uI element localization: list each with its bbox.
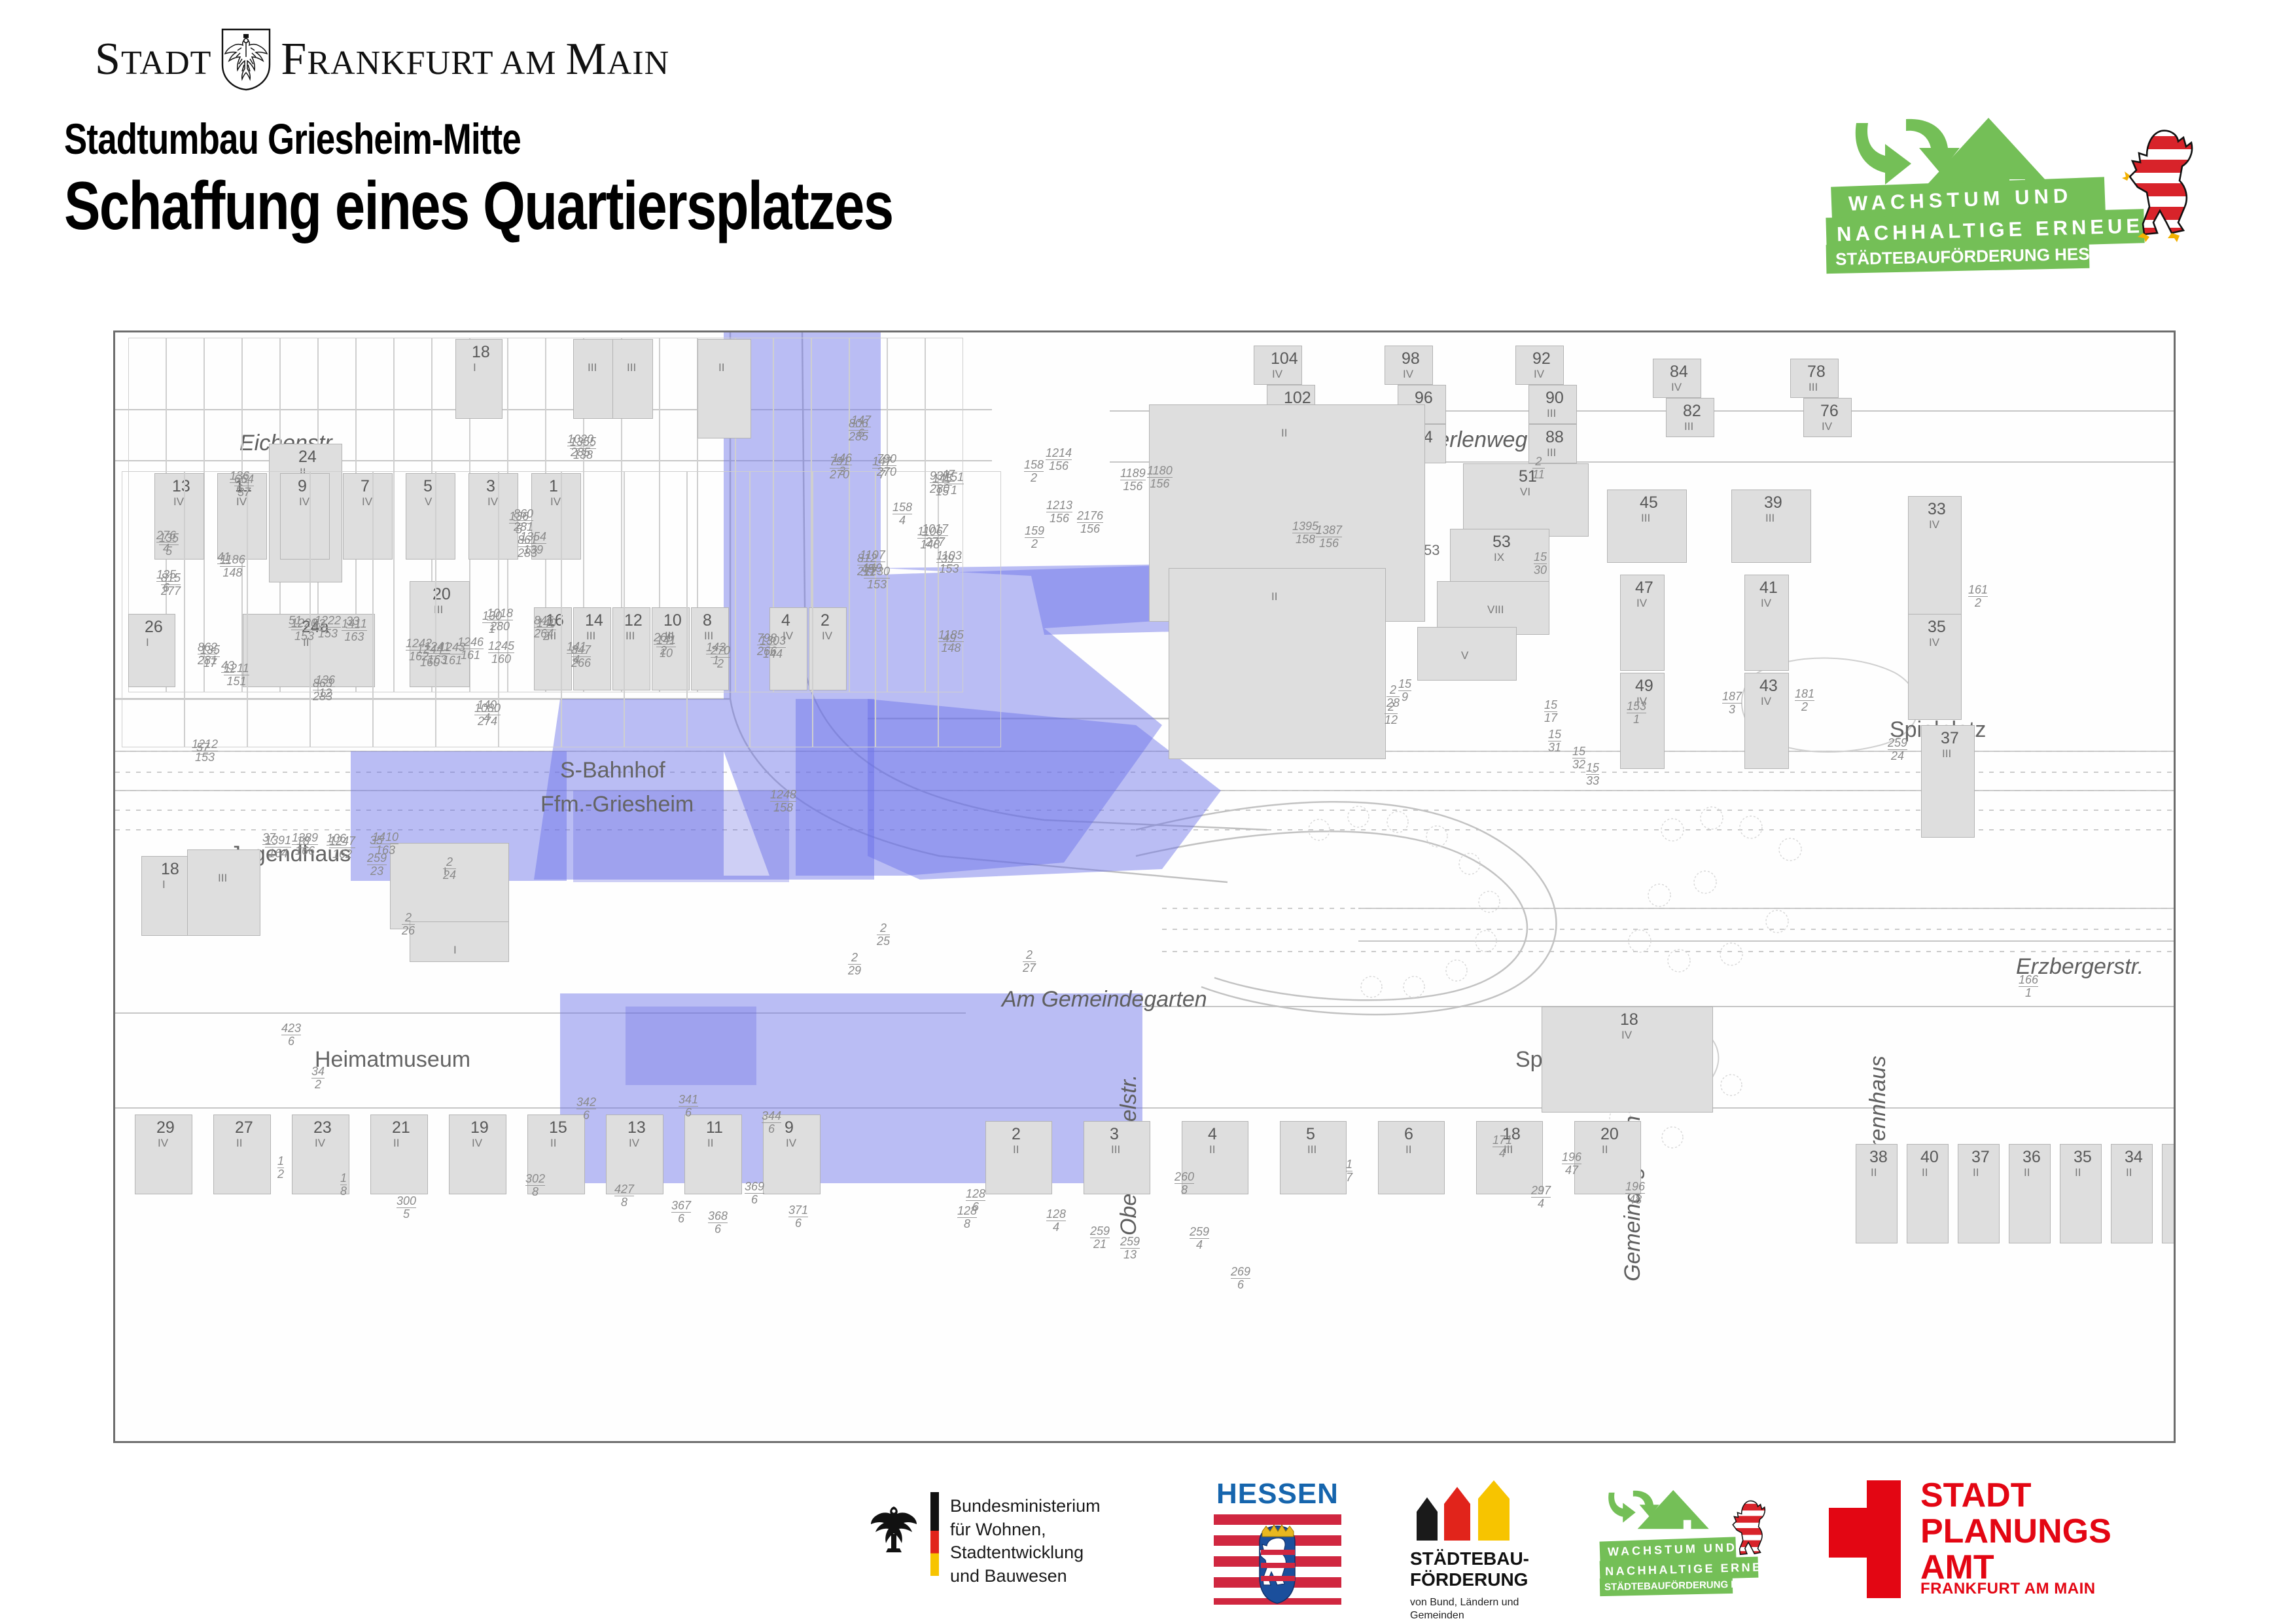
- frankfurt-eagle-crest-icon: [221, 28, 272, 91]
- map-floor-count: VI: [1520, 486, 1530, 499]
- map-parcel-number: 12: [277, 1155, 284, 1180]
- map-parcel-number: 66437: [234, 473, 254, 498]
- map-house-number: 35: [1928, 618, 1946, 637]
- map-parcel-number: 19648: [1625, 1181, 1645, 1205]
- map-parcel-number: 3028: [525, 1173, 545, 1198]
- hessen-lion-icon: [2121, 124, 2199, 242]
- map-parcel-number: 1873: [1722, 690, 1742, 715]
- map-parcel-number: 1612: [1968, 584, 1988, 609]
- map-floor-count: II: [2024, 1166, 2030, 1179]
- bmwsb-text: Bundesministerium für Wohnen, Stadtentwi…: [950, 1495, 1178, 1588]
- map-parcel-number: 3686: [708, 1210, 728, 1235]
- map-parcel-number: 862281: [198, 641, 217, 666]
- city-logo-word-frankfurt: FRANKFURT AM MAIN: [281, 33, 669, 86]
- street-label-am-gemeindegarten: Am Gemeindegarten: [1002, 987, 1207, 1012]
- wachstum-band-line3: STÄDTEBAUFÖRDERUNG HESSEN: [1826, 240, 2090, 274]
- bmwsb-line3: und Bauwesen: [950, 1565, 1178, 1588]
- map-floor-count: V: [1461, 649, 1468, 662]
- stadtplanungsamt-logo: STADT PLANUNGS AMT FRANKFURT AM MAIN: [1829, 1480, 2169, 1605]
- map-floor-count: IV: [472, 1137, 482, 1150]
- map-parcel-number: 1387156: [1316, 524, 1342, 549]
- map-parcel-number: 225: [877, 922, 890, 947]
- map-house-number: 29: [156, 1118, 175, 1137]
- map-floor-count: II: [1973, 1166, 1979, 1179]
- staedtebau-sub2: Gemeinden: [1410, 1609, 1557, 1622]
- map-parcel: [185, 471, 247, 747]
- spa-city: FRANKFURT AM MAIN: [1920, 1580, 2096, 1598]
- map-parcel-number: 2974: [1531, 1185, 1551, 1209]
- map-parcel-number: 227: [1023, 949, 1036, 974]
- map-parcel-number: 806285: [849, 418, 868, 442]
- map-parcel-number: 1532: [1572, 745, 1585, 770]
- map-house-number: 9: [785, 1118, 794, 1137]
- map-house-number: 49: [1635, 677, 1653, 696]
- map-floor-count: III: [627, 361, 636, 374]
- map-house-number: 78: [1807, 363, 1826, 382]
- map-parcel-number: 1530: [1534, 551, 1547, 576]
- map-house-number: 4: [1208, 1125, 1217, 1144]
- map-parcel-number: 25924: [1888, 737, 1907, 762]
- map-parcel-number: 3005: [397, 1195, 416, 1220]
- map-house-number: 18: [472, 343, 490, 362]
- map-parcel-number: 1017277: [922, 523, 948, 548]
- map-floor-count: IV: [1621, 1029, 1632, 1042]
- spa-line1: STADT: [1920, 1478, 2111, 1514]
- map-house-number: 13: [627, 1118, 646, 1137]
- map-parcel-number: 1213156: [1046, 499, 1072, 524]
- map-floor-count: III: [218, 872, 227, 885]
- map-parcel-number: 224: [443, 856, 456, 881]
- map-house-number: 37: [1941, 729, 1959, 748]
- map-floor-count: IV: [1534, 368, 1544, 381]
- map-house-number: 18: [161, 860, 179, 879]
- map-parcel-number: 1395158: [1292, 520, 1318, 545]
- map-floor-count: II: [1871, 1166, 1877, 1179]
- hessen-wordmark: HESSEN: [1214, 1478, 1341, 1510]
- poi-label-heimatmuseum: Heimatmuseum: [315, 1047, 470, 1073]
- cadastral-map[interactable]: Eichenstr. Schwarzerlenweg Am Gemeindega…: [113, 330, 2176, 1443]
- map-parcel-number: 1284: [1046, 1208, 1066, 1233]
- wachstum-erneuerung-logo: WACHSTUM UND NACHHALTIGE ERNEUERUNG STÄD…: [1826, 116, 2219, 267]
- map-house-number: 11: [706, 1118, 723, 1137]
- map-house-number: 33: [1928, 500, 1946, 519]
- map-parcel-number: 1020285: [567, 433, 593, 458]
- map-parcel-number: 33: [346, 615, 359, 628]
- map-floor-count: III: [1307, 1143, 1316, 1156]
- map-floor-count: IV: [158, 1137, 168, 1150]
- map-parcel-number: 791270: [830, 455, 849, 480]
- map-floor-count: III: [1111, 1143, 1120, 1156]
- map-parcel-number: 815277: [161, 572, 181, 597]
- map-house-number: 90: [1545, 389, 1564, 408]
- map-house-number: 6: [1404, 1125, 1413, 1144]
- bmwsb-line2: für Wohnen, Stadtentwicklung: [950, 1518, 1178, 1565]
- page-header: STADT FRANKFURT AM MAIN Stadtumbau Gries…: [0, 0, 2296, 288]
- wachstum-erneuerung-logo-footer: WACHSTUM UND NACHHALTIGE ERNEUERUNG STÄD…: [1600, 1479, 1796, 1607]
- stadtplanungsamt-mark-icon: [1829, 1480, 1901, 1598]
- staedtebau-line1: STÄDTEBAU-: [1410, 1548, 1557, 1569]
- map-floor-count: IV: [1929, 636, 1939, 649]
- map-parcel-number: 45: [861, 563, 874, 576]
- map-house-number: 36: [2022, 1148, 2041, 1167]
- map-parcel-number: 3426: [576, 1096, 596, 1121]
- map-floor-count: II: [236, 1137, 242, 1150]
- map-floor-count: IV: [1272, 368, 1282, 381]
- map-house-number: 84: [1670, 363, 1688, 382]
- staedtebau-sub1: von Bund, Ländern und: [1410, 1596, 1557, 1609]
- house-number-53: 53: [1424, 542, 1439, 559]
- map-floor-count: III: [1547, 407, 1556, 420]
- map-floor-count: IV: [315, 1137, 325, 1150]
- title-block: Stadtumbau Griesheim-Mitte Schaffung ein…: [64, 116, 1100, 242]
- map-house-number: 39: [1764, 493, 1782, 512]
- map-house-number: 20: [1600, 1125, 1619, 1144]
- map-floor-count: IV: [1761, 597, 1771, 610]
- map-parcel-number: 211: [1532, 455, 1545, 480]
- map-parcel: [310, 471, 373, 747]
- map-parcel-number: 2594: [1190, 1226, 1209, 1251]
- map-parcel-number: 18: [340, 1172, 347, 1197]
- map-floor-count: II: [1602, 1143, 1608, 1156]
- map-house-number: 38: [1869, 1148, 1888, 1167]
- map-parcel-number: 1592: [1025, 525, 1044, 550]
- map-house-number: 35: [2074, 1148, 2092, 1167]
- map-house-number: 98: [1402, 349, 1420, 368]
- map-house-number: 76: [1820, 402, 1839, 421]
- staedtebau-title: STÄDTEBAU- FÖRDERUNG: [1410, 1548, 1557, 1591]
- map-floor-count: II: [1405, 1143, 1411, 1156]
- map-parcel-number: 47: [942, 469, 955, 482]
- map-house-number: 24: [298, 448, 317, 467]
- map-building: [187, 849, 260, 936]
- map-parcel-number: 1661: [2019, 974, 2038, 999]
- map-parcel-number: 1584: [892, 501, 912, 526]
- map-floor-count: II: [1013, 1143, 1019, 1156]
- map-floor-count: I: [473, 361, 476, 374]
- map-parcel-number: 2764: [156, 529, 176, 554]
- stadtplanungsamt-wordmark: STADT PLANUNGS AMT: [1920, 1478, 2111, 1586]
- map-parcel-number: 1189156: [1120, 467, 1146, 492]
- map-parcel-number: 25923: [367, 852, 387, 877]
- map-parcel-number: 226: [402, 912, 415, 936]
- map-building: [410, 921, 509, 962]
- map-parcel-number: 3446: [762, 1110, 781, 1135]
- map-floor-count: II: [2075, 1166, 2081, 1179]
- map-parcel-number: 229: [848, 952, 861, 976]
- page-subtitle: Stadtumbau Griesheim-Mitte: [64, 116, 893, 162]
- map-floor-count: II: [718, 361, 724, 374]
- recycling-arrow-house-icon: [1604, 1479, 1728, 1544]
- staedtebau-subtitle: von Bund, Ländern und Gemeinden: [1410, 1596, 1557, 1622]
- map-house-number: 18: [1620, 1010, 1638, 1029]
- hessen-logo: HESSEN: [1214, 1478, 1341, 1602]
- map-floor-count: I: [453, 944, 457, 957]
- spa-line2: PLANUNGS: [1920, 1514, 2111, 1550]
- map-parcel-number: 3676: [671, 1200, 691, 1224]
- map-parcel: [247, 471, 310, 747]
- map-floor-count: III: [1641, 512, 1650, 525]
- map-parcel-number: 4236: [281, 1022, 301, 1047]
- map-parcel: [938, 471, 1001, 747]
- map-floor-count: IX: [1494, 551, 1504, 564]
- map-house-number: 45: [1640, 493, 1658, 512]
- map-house-number: 53: [1492, 533, 1511, 552]
- map-parcel-number: 3696: [745, 1181, 764, 1205]
- map-floor-count: IV: [1929, 518, 1939, 531]
- map-building: [698, 339, 751, 438]
- map-parcel-number: 17: [1346, 1158, 1352, 1183]
- page-title: Schaffung eines Quartiersplatzes: [64, 171, 893, 242]
- map-parcel-number: 846264: [534, 615, 554, 639]
- poi-label-s-bahnhof: S-Bahnhof: [560, 758, 665, 783]
- map-parcel-number: 51: [289, 615, 302, 628]
- map-parcel-number: 2702: [711, 645, 730, 669]
- map-parcel-number: 159: [1398, 678, 1411, 703]
- map-house-number: 23: [313, 1118, 332, 1137]
- map-parcel-number: 1248158: [770, 789, 796, 813]
- city-logo-word-stadt: STADT: [95, 33, 211, 86]
- map-parcel-number: 2696: [1231, 1266, 1250, 1291]
- map-floor-count: II: [550, 1137, 556, 1150]
- map-floor-count: II: [707, 1137, 713, 1150]
- map-parcel-number: 57: [196, 741, 209, 755]
- map-parcel-number: 1214156: [1046, 447, 1072, 472]
- map-parcel-number: 1812: [1795, 688, 1814, 713]
- map-parcel-number: 1245160: [488, 640, 514, 665]
- map-parcel-number: 847266: [571, 644, 591, 669]
- map-parcel-number: 3716: [788, 1204, 808, 1229]
- map-parcel-number: 790270: [877, 453, 896, 478]
- map-parcel-number: 1242162: [406, 637, 432, 662]
- map-house-number: 47: [1635, 579, 1653, 597]
- map-parcel: [624, 471, 687, 747]
- map-floor-count: IV: [786, 1137, 796, 1150]
- map-floor-count: II: [393, 1137, 399, 1150]
- poi-label-ffm-griesheim: Ffm.-Griesheim: [540, 792, 694, 817]
- map-house-number: 34: [2125, 1148, 2143, 1167]
- map-parcel-number: 1517: [1544, 699, 1557, 724]
- map-parcel-number: 43: [221, 660, 234, 673]
- map-parcel-number: 18: [296, 835, 309, 848]
- map-parcel: [813, 471, 875, 747]
- map-parcel-number: 1288: [957, 1205, 977, 1230]
- map-parcel-number: 37: [262, 832, 275, 845]
- map-house-number: 40: [1920, 1148, 1939, 1167]
- map-house-number: 27: [235, 1118, 253, 1137]
- map-parcel-number: 798266: [757, 632, 777, 657]
- map-floor-count: III: [1809, 381, 1818, 394]
- bmwsb-line1: Bundesministerium: [950, 1495, 1178, 1518]
- wachstum-footer-line3: STÄDTEBAUFÖRDERUNG HESSEN: [1600, 1576, 1733, 1596]
- map-parcel-number: 4278: [614, 1183, 634, 1208]
- map-parcel-number: 1080274: [474, 702, 501, 727]
- map-house-number: 37: [1971, 1148, 1990, 1167]
- page-footer: Bundesministerium für Wohnen, Stadtentwi…: [0, 1472, 2296, 1623]
- map-house-number: 43: [1759, 677, 1778, 696]
- staedtebaufoerderung-logo: STÄDTEBAU- FÖRDERUNG von Bund, Ländern u…: [1410, 1479, 1557, 1610]
- map-parcel: [561, 471, 624, 747]
- map-house-number: 41: [1759, 579, 1778, 597]
- bmwsb-logo: Bundesministerium für Wohnen, Stadtentwi…: [870, 1486, 1178, 1584]
- bundesadler-icon: [870, 1504, 917, 1554]
- map-building: [2162, 1144, 2176, 1243]
- staedtebau-line2: FÖRDERUNG: [1410, 1569, 1557, 1590]
- map-parcel-number: 35: [370, 834, 383, 847]
- map-floor-count: II: [1922, 1166, 1928, 1179]
- map-parcel-number: 1533: [1586, 762, 1599, 787]
- map-house-number: 21: [392, 1118, 410, 1137]
- map-floor-count: II: [1281, 427, 1287, 440]
- map-floor-count: III: [1547, 446, 1556, 459]
- map-floor-count: IV: [1822, 420, 1832, 433]
- map-house-number: 5: [1306, 1125, 1315, 1144]
- map-parcel-number: 212: [1385, 701, 1398, 726]
- map-house-number: 88: [1545, 428, 1564, 447]
- map-canvas: Eichenstr. Schwarzerlenweg Am Gemeindega…: [115, 332, 2174, 1441]
- map-parcel-number: 2682: [654, 632, 673, 656]
- map-floor-count: II: [1209, 1143, 1215, 1156]
- three-houses-icon: [1410, 1479, 1557, 1541]
- map-floor-count: IV: [629, 1137, 639, 1150]
- map-floor-count: III: [1684, 420, 1693, 433]
- map-floor-count: IV: [1761, 695, 1771, 708]
- map-parcel: [687, 471, 750, 747]
- map-parcel: [750, 471, 813, 747]
- map-house-number: 15: [549, 1118, 567, 1137]
- map-parcel-number: 2176156: [1077, 510, 1103, 535]
- map-parcel-number: 1582: [1024, 459, 1044, 484]
- map-parcel-number: 41: [217, 551, 230, 564]
- map-floor-count: IV: [1636, 597, 1647, 610]
- map-floor-count: VIII: [1487, 603, 1504, 616]
- map-floor-count: IV: [1671, 381, 1682, 394]
- map-floor-count: IV: [1403, 368, 1413, 381]
- map-house-number: 19: [470, 1118, 489, 1137]
- map-floor-count: II: [1271, 590, 1277, 603]
- map-parcel-number: 106: [327, 832, 346, 846]
- map-house-number: 3: [1110, 1125, 1119, 1144]
- map-parcel-number: 1714: [1492, 1134, 1512, 1159]
- map-floor-count: III: [588, 361, 597, 374]
- map-parcel-number: 49: [943, 632, 956, 645]
- map-house-number: 104: [1271, 349, 1298, 368]
- map-parcel-number: 342: [311, 1065, 325, 1090]
- map-parcel-number: 1180156: [1147, 465, 1173, 490]
- map-parcel-number: 25913: [1120, 1236, 1140, 1260]
- map-house-number: 82: [1683, 402, 1701, 421]
- map-parcel-number: 19647: [1562, 1151, 1581, 1176]
- map-floor-count: III: [1765, 512, 1775, 525]
- map-parcel-number: 53: [312, 618, 325, 631]
- map-parcel-number: 2608: [1174, 1171, 1194, 1196]
- map-floor-count: II: [2126, 1166, 2132, 1179]
- map-building: [573, 339, 614, 419]
- map-parcel-number: 863283: [313, 677, 332, 702]
- map-parcel-number: 1018280: [487, 607, 513, 632]
- map-house-number: 2: [1012, 1125, 1021, 1144]
- german-flag-bar-icon: [930, 1492, 939, 1576]
- map-parcel-number: 3416: [679, 1094, 698, 1118]
- hessen-shield-lion-icon: [1214, 1514, 1341, 1605]
- map-parcel-number: 39: [941, 553, 954, 566]
- city-of-frankfurt-logo: STADT FRANKFURT AM MAIN: [95, 31, 669, 87]
- map-building: [612, 339, 653, 419]
- map-parcel-number: 1531: [1627, 700, 1646, 725]
- map-floor-count: I: [162, 878, 166, 891]
- map-parcel: [122, 471, 185, 747]
- map-house-number: 92: [1532, 349, 1551, 368]
- map-parcel-number: 860281: [514, 508, 533, 533]
- map-parcel-number: 1531: [1548, 728, 1561, 753]
- map-parcel: [373, 471, 436, 747]
- map-parcel-number: 1243161: [439, 641, 465, 666]
- map-parcel-number: 25921: [1090, 1225, 1110, 1250]
- map-floor-count: III: [1942, 747, 1951, 760]
- map-parcel-number: 861283: [518, 534, 537, 559]
